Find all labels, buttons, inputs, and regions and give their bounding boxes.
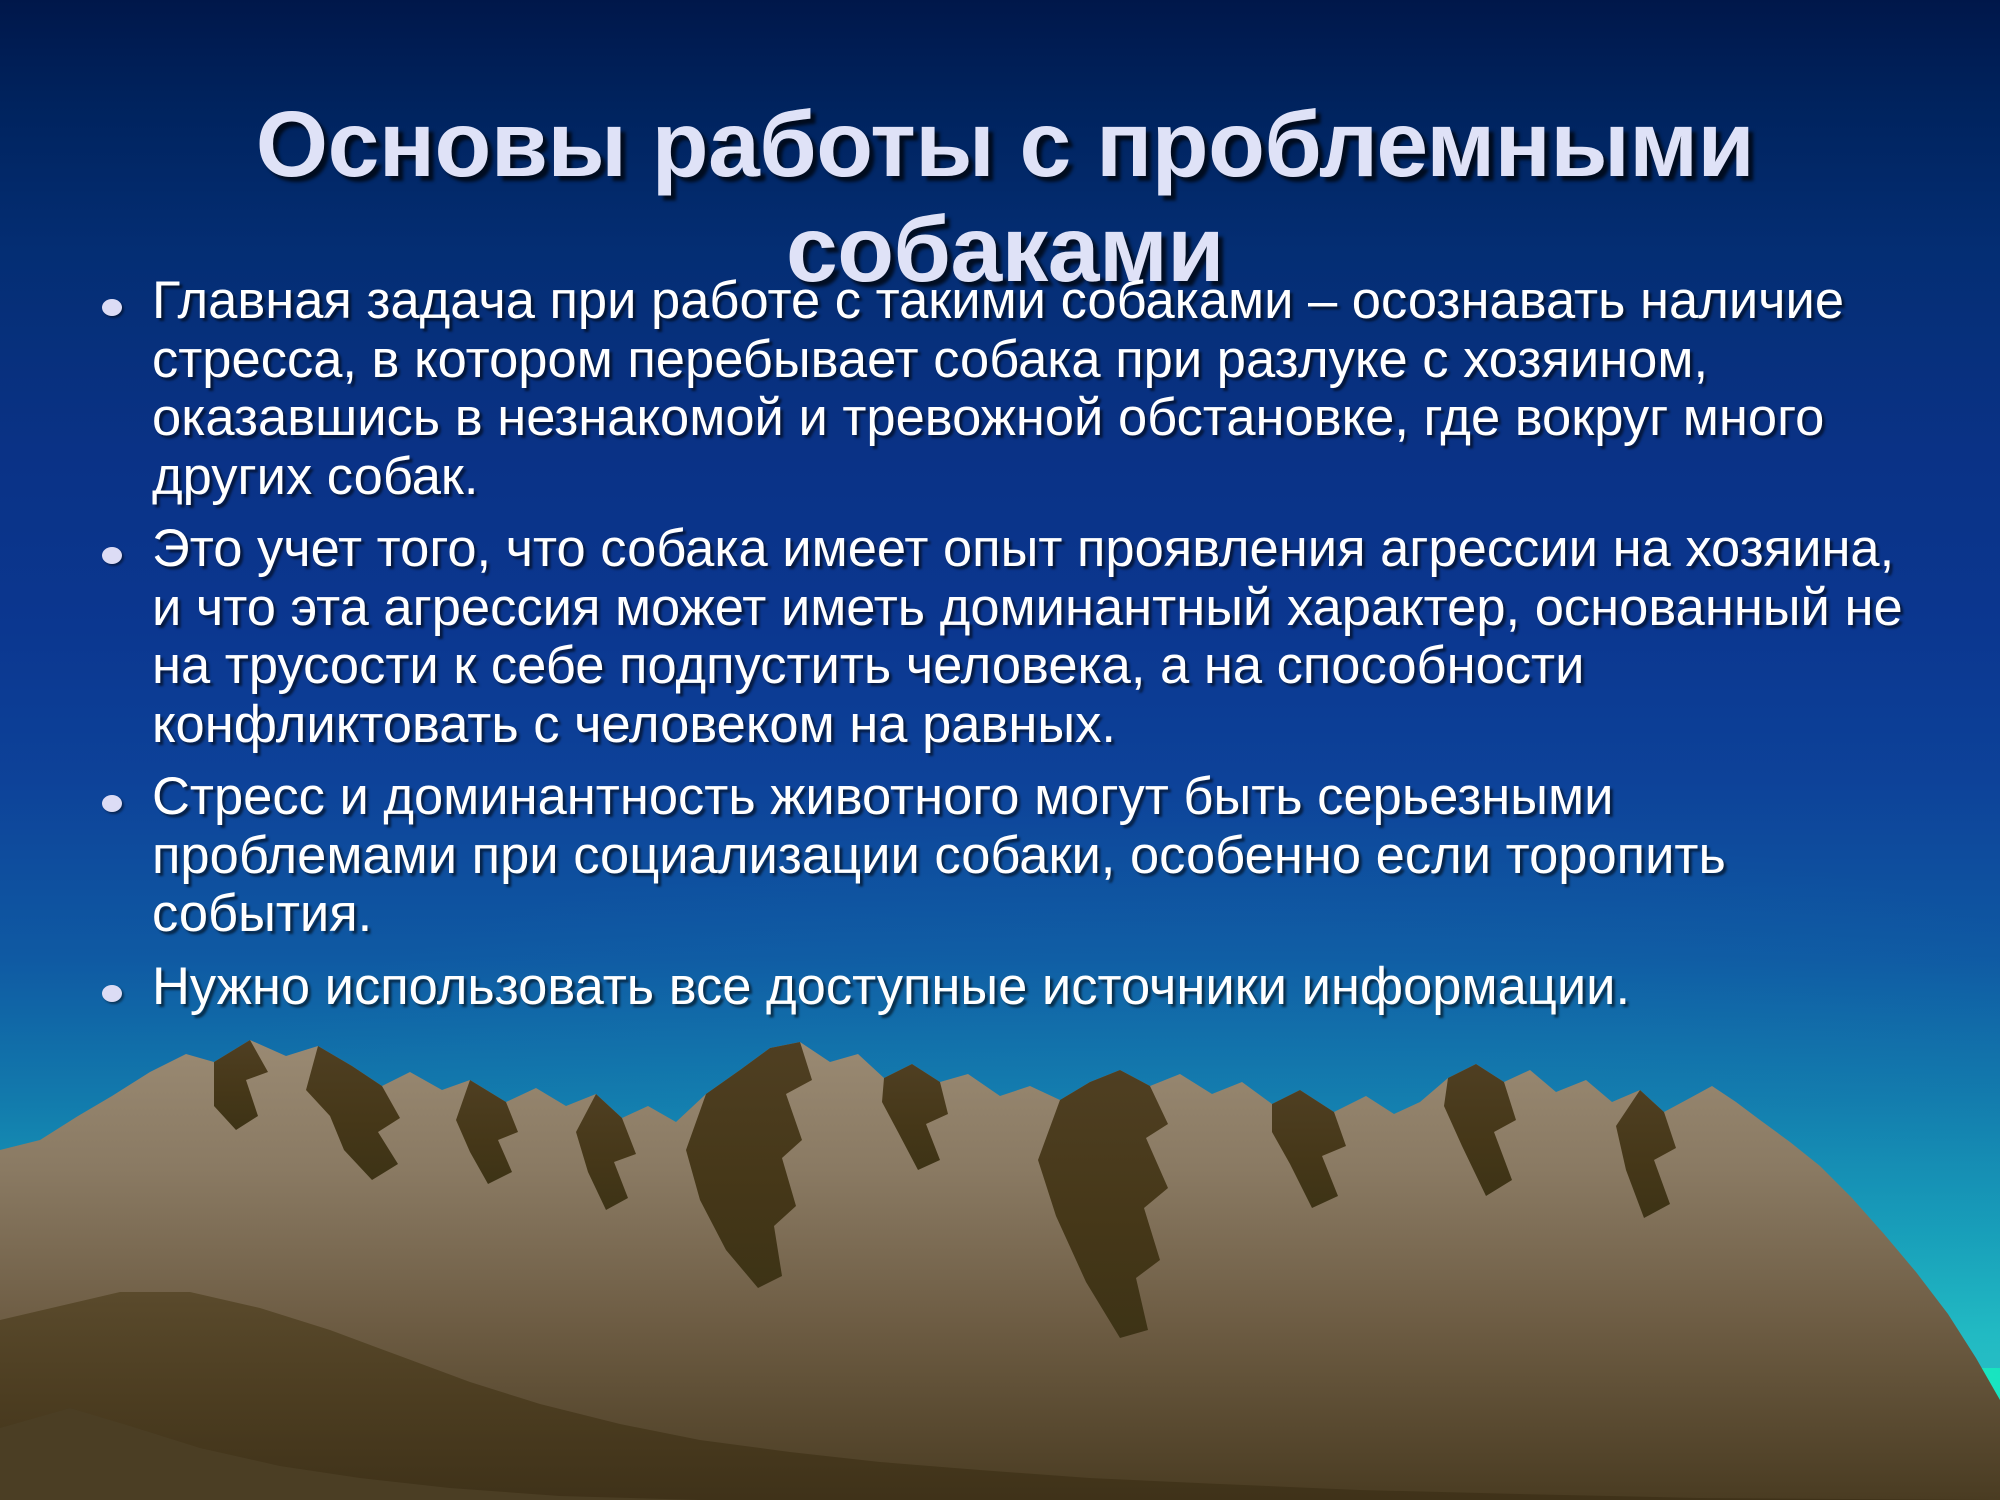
- bullet-marker-icon: [102, 985, 122, 1002]
- bullet-item-1: Главная задача при работе с такими собак…: [88, 272, 1928, 506]
- bullet-item-3-text: Стресс и доминантность животного могут б…: [152, 768, 1928, 944]
- bullet-item-1-text: Главная задача при работе с такими собак…: [152, 272, 1928, 506]
- presentation-slide: Основы работы с проблемными собаками Гла…: [0, 0, 2000, 1500]
- slide-bullet-list: Главная задача при работе с такими собак…: [88, 272, 1928, 1016]
- bullet-marker-icon: [102, 299, 122, 316]
- bullet-item-4-text: Нужно использовать все доступные источни…: [152, 958, 1928, 1017]
- bullet-item-2-text: Это учет того, что собака имеет опыт про…: [152, 520, 1928, 754]
- bullet-item-4: Нужно использовать все доступные источни…: [88, 958, 1928, 1017]
- mountain-range-illustration: [0, 1020, 2000, 1500]
- bullet-marker-icon: [102, 547, 122, 564]
- bullet-item-2: Это учет того, что собака имеет опыт про…: [88, 520, 1928, 754]
- bullet-item-3: Стресс и доминантность животного могут б…: [88, 768, 1928, 944]
- bullet-marker-icon: [102, 795, 122, 812]
